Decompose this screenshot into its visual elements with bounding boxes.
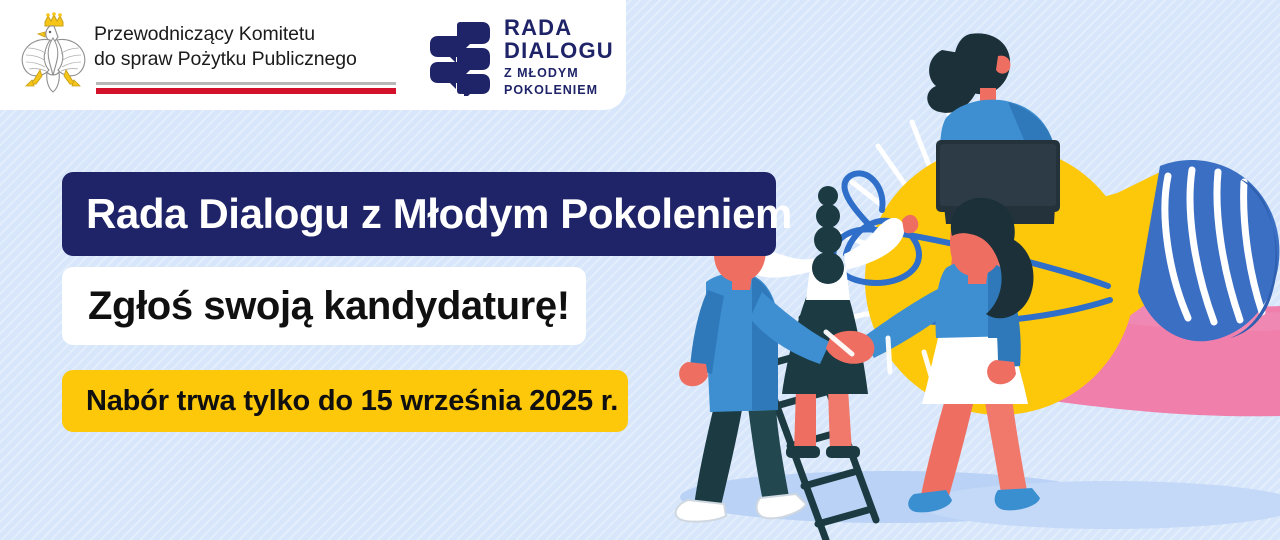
- organization-title-line1: Przewodniczący Komitetu: [94, 22, 400, 47]
- header-panel: Przewodniczący Komitetu do spraw Pożytku…: [0, 0, 626, 110]
- speech-bubble-plant-mark-icon: [424, 16, 496, 96]
- rdmp-logo: RADA DIALOGU Z MŁODYM POKOLENIEM: [424, 16, 614, 96]
- header-red-rule: [96, 88, 396, 94]
- page-title: Rada Dialogu z Młodym Pokoleniem: [62, 190, 792, 238]
- lightbulb-teamwork-illustration: [640, 0, 1280, 540]
- deadline-text: Nabór trwa tylko do 15 września 2025 r.: [62, 385, 618, 418]
- banner-root: Przewodniczący Komitetu do spraw Pożytku…: [0, 0, 1280, 540]
- organization-title: Przewodniczący Komitetu do spraw Pożytku…: [94, 22, 400, 72]
- rdmp-logo-line1: RADA: [504, 16, 614, 39]
- title-banner-box: Rada Dialogu z Młodym Pokoleniem: [62, 172, 776, 256]
- call-to-action-text: Zgłoś swoją kandydaturę!: [62, 284, 570, 329]
- rdmp-logo-line4: POKOLENIEM: [504, 82, 614, 99]
- rdmp-logo-line3: Z MŁODYM: [504, 65, 614, 82]
- rdmp-logo-wordmark: RADA DIALOGU Z MŁODYM POKOLENIEM: [504, 16, 614, 99]
- polish-eagle-emblem-icon: [14, 10, 92, 98]
- organization-title-line2: do spraw Pożytku Publicznego: [94, 47, 400, 72]
- deadline-box: Nabór trwa tylko do 15 września 2025 r.: [62, 370, 628, 432]
- header-gray-rule: [96, 82, 396, 85]
- rdmp-logo-line2: DIALOGU: [504, 39, 614, 63]
- subtitle-box: Zgłoś swoją kandydaturę!: [62, 267, 586, 345]
